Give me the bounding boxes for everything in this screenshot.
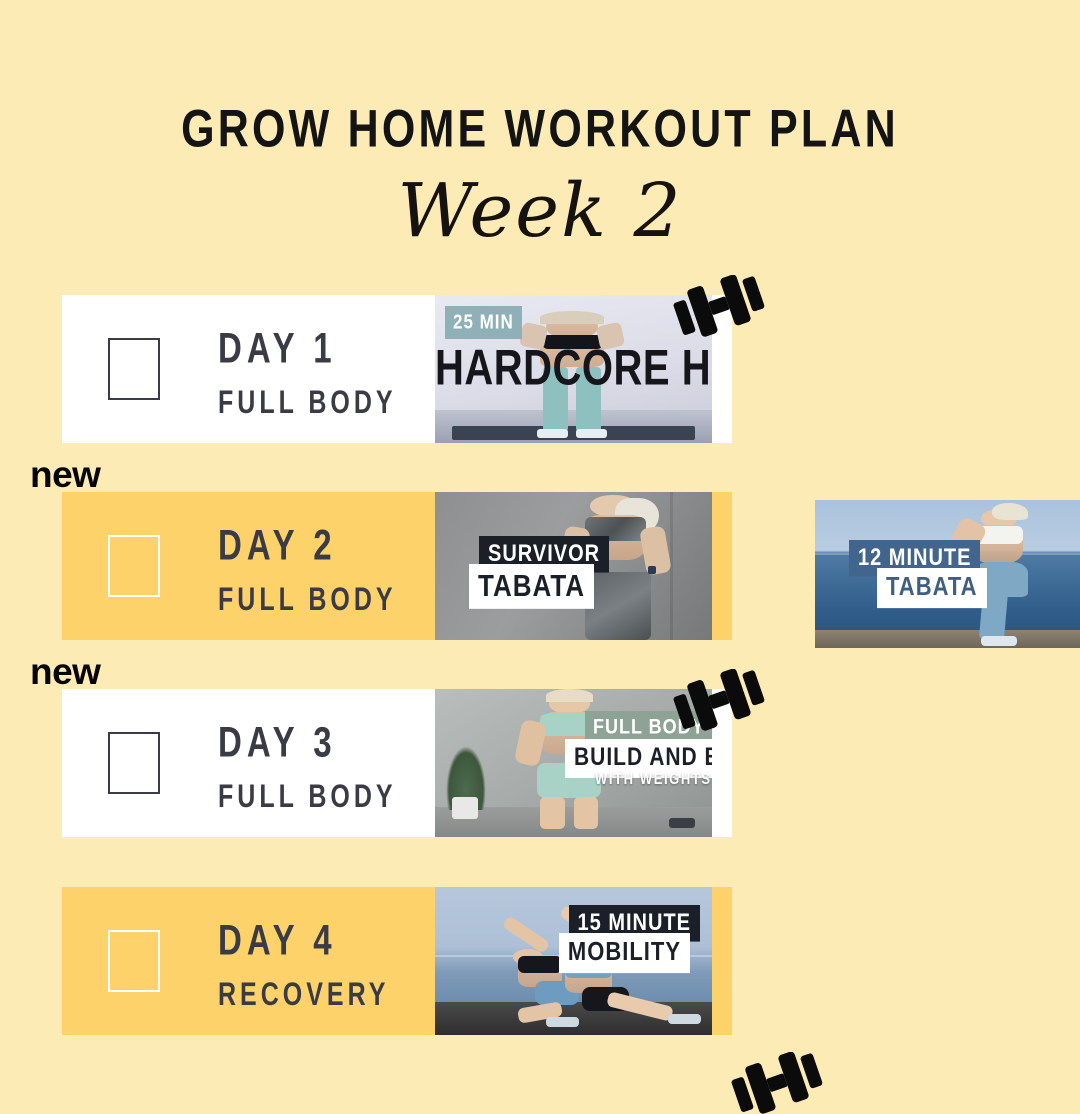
checkbox-day-2[interactable] (108, 535, 160, 597)
thumbnail-title-day-1: HARDCORE HIIT (435, 343, 712, 393)
new-badge-day-2: new (30, 456, 100, 493)
page-title: GROW HOME WORKOUT PLAN (0, 104, 1080, 156)
day-row-3-left: DAY 3 FULL BODY (62, 689, 435, 837)
checkbox-day-1[interactable] (108, 338, 160, 400)
thumbnail-line2-day-2b: TABATA (877, 568, 987, 608)
day-row-3-panel: DAY 3 FULL BODY (62, 689, 732, 837)
checkbox-day-4[interactable] (108, 930, 160, 992)
new-badge-day-3: new (30, 653, 100, 690)
day-row-2-panel: DAY 2 FULL BODY SURVIVOR TABATA (62, 492, 732, 640)
day-1-name: DAY 1 (218, 326, 397, 369)
thumbnail-line2-day-2: TABATA (469, 564, 594, 609)
day-row-2[interactable]: DAY 2 FULL BODY SURVIVOR TABATA (62, 492, 732, 640)
day-row-3[interactable]: DAY 3 FULL BODY (62, 689, 732, 837)
week-subtitle: Week 2 (0, 173, 1080, 251)
page-header: GROW HOME WORKOUT PLAN Week 2 (0, 0, 1080, 251)
day-4-focus: RECOVERY (218, 979, 389, 1012)
day-2-labels: DAY 2 FULL BODY (218, 523, 397, 609)
day-4-labels: DAY 4 RECOVERY (218, 918, 389, 1004)
dumbbell-icon-partial (728, 1052, 824, 1114)
thumbnail-day-2-12-minute-tabata[interactable]: 12 MINUTE TABATA (815, 500, 1080, 648)
day-3-labels: DAY 3 FULL BODY (218, 720, 397, 806)
thumbnail-day-4-mobility[interactable]: 15 MINUTE MOBILITY (435, 887, 712, 1035)
day-row-4[interactable]: DAY 4 RECOVERY (62, 887, 732, 1035)
duration-badge-day-1: 25 MIN (445, 306, 522, 339)
day-1-labels: DAY 1 FULL BODY (218, 326, 397, 412)
day-2-name: DAY 2 (218, 523, 397, 566)
day-row-1-panel: DAY 1 FULL BODY (62, 295, 732, 443)
day-1-focus: FULL BODY (218, 387, 397, 420)
dumbbell-icon (670, 275, 766, 337)
thumbnail-day-2-survivor-tabata[interactable]: SURVIVOR TABATA (435, 492, 712, 640)
thumbnail-line2-day-4: MOBILITY (559, 933, 690, 973)
day-4-name: DAY 4 (218, 918, 389, 961)
dumbbell-icon (670, 669, 766, 731)
day-3-name: DAY 3 (218, 720, 397, 763)
day-row-2-left: DAY 2 FULL BODY (62, 492, 435, 640)
day-row-1[interactable]: DAY 1 FULL BODY (62, 295, 732, 443)
checkbox-day-3[interactable] (108, 732, 160, 794)
day-2-focus: FULL BODY (218, 584, 397, 617)
day-row-4-left: DAY 4 RECOVERY (62, 887, 435, 1035)
thumbnail-line3-day-3: WITH WEIGHTS (595, 771, 712, 786)
day-row-1-left: DAY 1 FULL BODY (62, 295, 435, 443)
day-row-4-panel: DAY 4 RECOVERY (62, 887, 732, 1035)
day-3-focus: FULL BODY (218, 781, 397, 814)
